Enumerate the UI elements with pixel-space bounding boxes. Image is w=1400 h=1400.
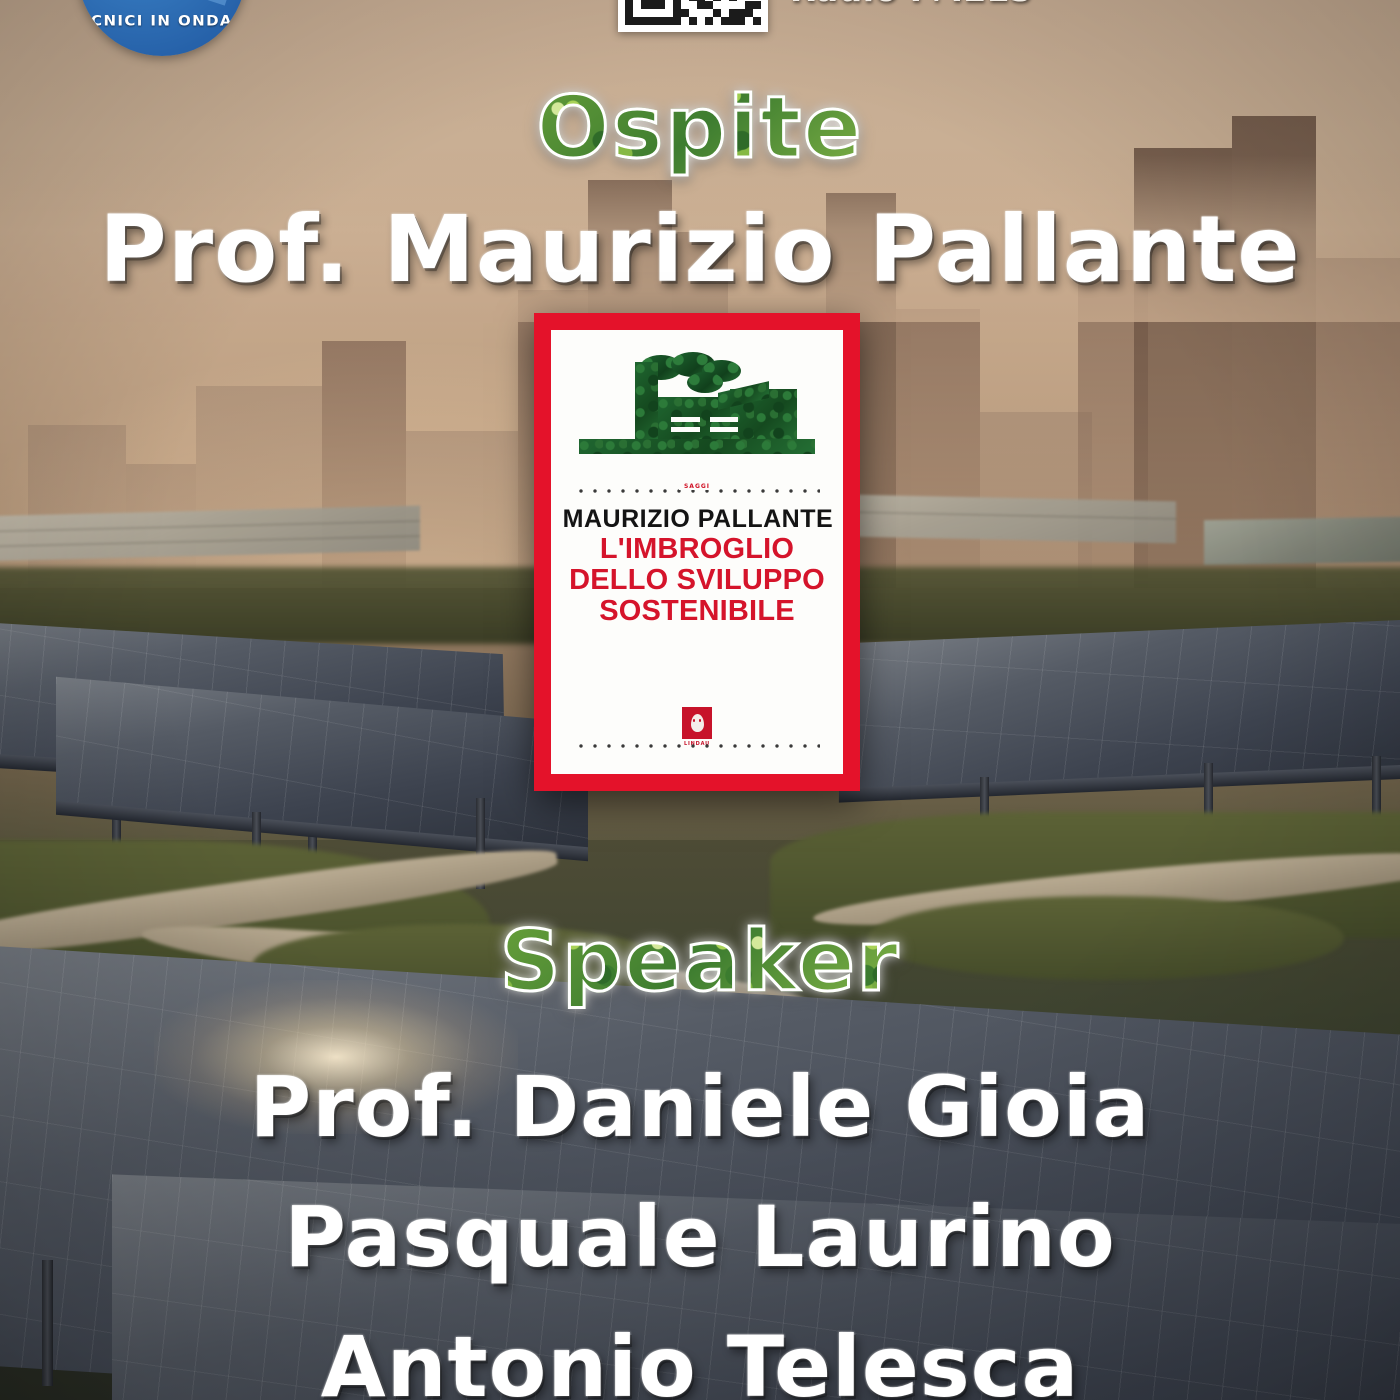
publisher-logo-icon [682, 707, 712, 739]
distant-solar-array [1204, 516, 1400, 565]
book-divider-bottom [574, 743, 819, 749]
book-cover-face: SAGGI MAURIZIO PALLANTE L'IMBROGLIO DELL… [551, 330, 843, 774]
speaker-section-label: Speaker [0, 912, 1400, 1010]
speaker-name: Prof. Daniele Gioia [0, 1058, 1400, 1156]
book-title-line-1: L'IMBROGLIO [563, 534, 832, 565]
tecnici-in-onda-badge-icon[interactable]: CNICI IN ONDA [78, 0, 246, 56]
book-series-tag: SAGGI [679, 483, 715, 490]
book-title-line-2: DELLO SVILUPPO [563, 565, 832, 596]
solar-canopy [839, 616, 1400, 790]
book-title-line-3: SOSTENIBILE [563, 596, 832, 627]
speaker-name: Pasquale Laurino [0, 1188, 1400, 1286]
guest-section-label: Ospite [0, 78, 1400, 178]
station-logo-text: CNICI IN ONDA [78, 13, 246, 30]
qr-code-icon[interactable] [618, 0, 768, 32]
event-poster: CNICI IN ONDA Radio I+I2LS Ospite Prof. … [0, 0, 1400, 1400]
book-cover[interactable]: SAGGI MAURIZIO PALLANTE L'IMBROGLIO DELL… [534, 313, 860, 791]
circuit-board-logo-icon[interactable] [1148, 0, 1328, 42]
radio-station-name: Radio I+I2LS [790, 0, 1033, 9]
book-title: L'IMBROGLIO DELLO SVILUPPO SOSTENIBILE [563, 534, 832, 627]
book-illustration-factory-icon [569, 352, 826, 476]
header-logo-strip: CNICI IN ONDA Radio I+I2LS [0, 0, 1400, 62]
speaker-name: Antonio Telesca [0, 1318, 1400, 1400]
guest-name: Prof. Maurizio Pallante [0, 196, 1400, 303]
book-author: MAURIZIO PALLANTE [563, 505, 832, 534]
